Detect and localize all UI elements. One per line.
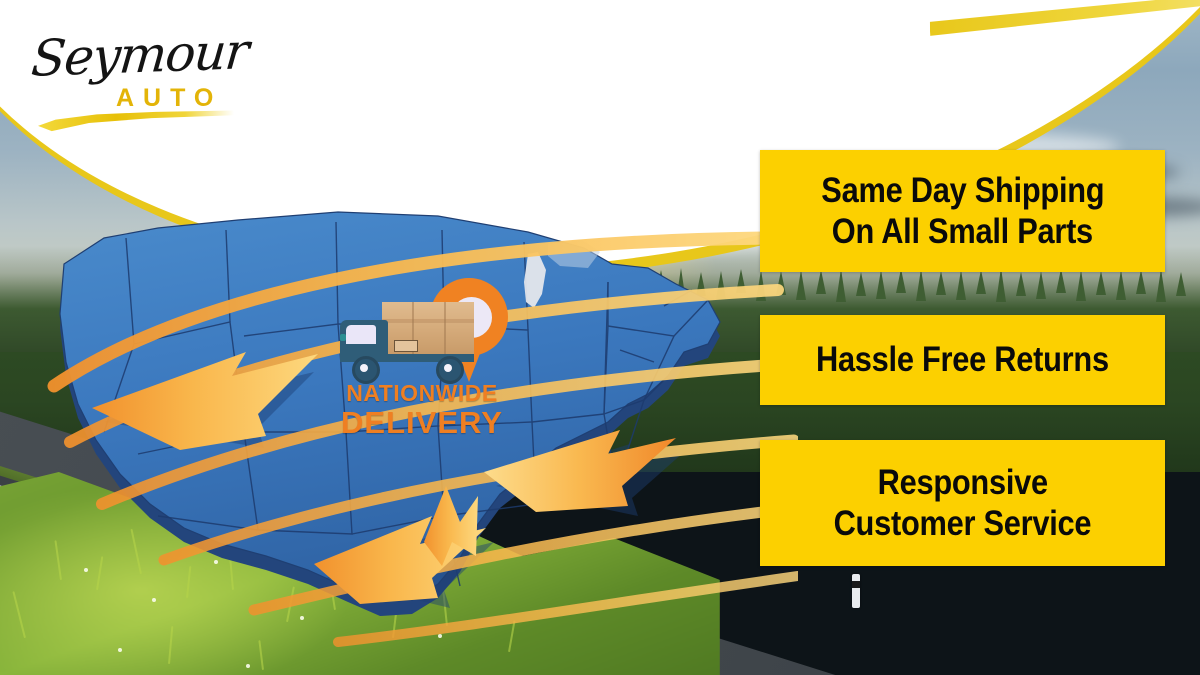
claim-banner-responsive-customer-service[interactable]: Responsive Customer Service [760,440,1165,566]
delivery-truck-icon [340,302,480,388]
promo-banner-canvas: Seymour AUTO [0,0,1200,675]
claim-line-1a: Same Day Shipping [821,170,1104,211]
claim-line-3b: Customer Service [834,503,1092,544]
logo-script-text: Seymour [29,22,250,87]
nationwide-delivery-badge: NATIONWIDE DELIVERY [330,272,510,452]
claim-line-3a: Responsive [877,462,1047,503]
brand-logo[interactable]: Seymour AUTO [28,18,248,128]
roadside-marker-post [852,574,860,608]
claim-line-1b: On All Small Parts [832,211,1093,252]
claim-banner-same-day-shipping[interactable]: Same Day Shipping On All Small Parts [760,150,1165,272]
badge-line-delivery: DELIVERY [322,405,522,441]
badge-caption: NATIONWIDE DELIVERY [322,382,522,441]
claim-line-2a: Hassle Free Returns [816,339,1109,380]
badge-line-nationwide: NATIONWIDE [322,382,522,405]
logo-auto-text: AUTO [116,84,222,113]
claim-banner-hassle-free-returns[interactable]: Hassle Free Returns [760,315,1165,405]
